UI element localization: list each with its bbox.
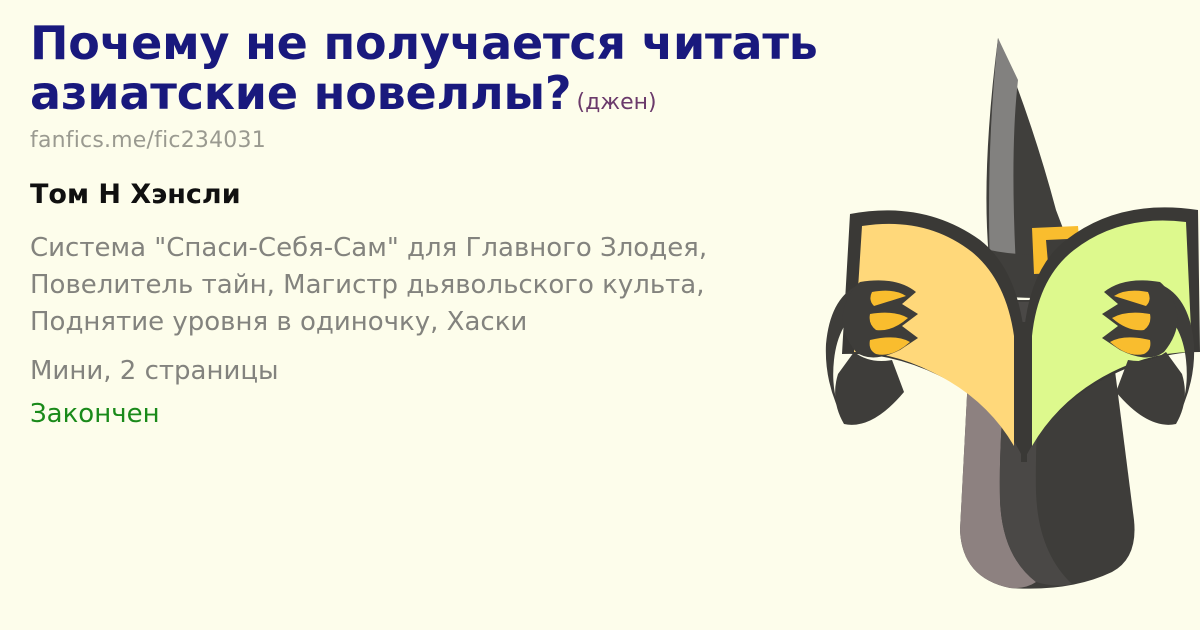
source-url: fanfics.me/fic234031 [30,128,830,153]
hat-buckle-icon [1032,226,1082,274]
title-block: Почему не получается читать азиатские но… [30,18,830,118]
wizard-reading-book-illustration [820,0,1200,630]
social-preview-card: Почему не получается читать азиатские но… [0,0,1200,630]
work-description: Система "Спаси-Себя-Сам" для Главного Зл… [30,230,820,341]
work-size-and-pages: Мини, 2 страницы [30,353,830,390]
robe-shape [960,300,1135,589]
page-title: Почему не получается читать азиатские но… [30,16,818,120]
rating-tag: (джен) [577,90,657,115]
open-book [842,207,1200,462]
left-hand [826,280,918,424]
text-column: Почему не получается читать азиатские но… [30,18,830,433]
wizard-hat [940,38,1120,298]
status-badge: Закончен [30,396,830,433]
right-hand [1102,280,1194,424]
author-name: Том Н Хэнсли [30,179,830,210]
